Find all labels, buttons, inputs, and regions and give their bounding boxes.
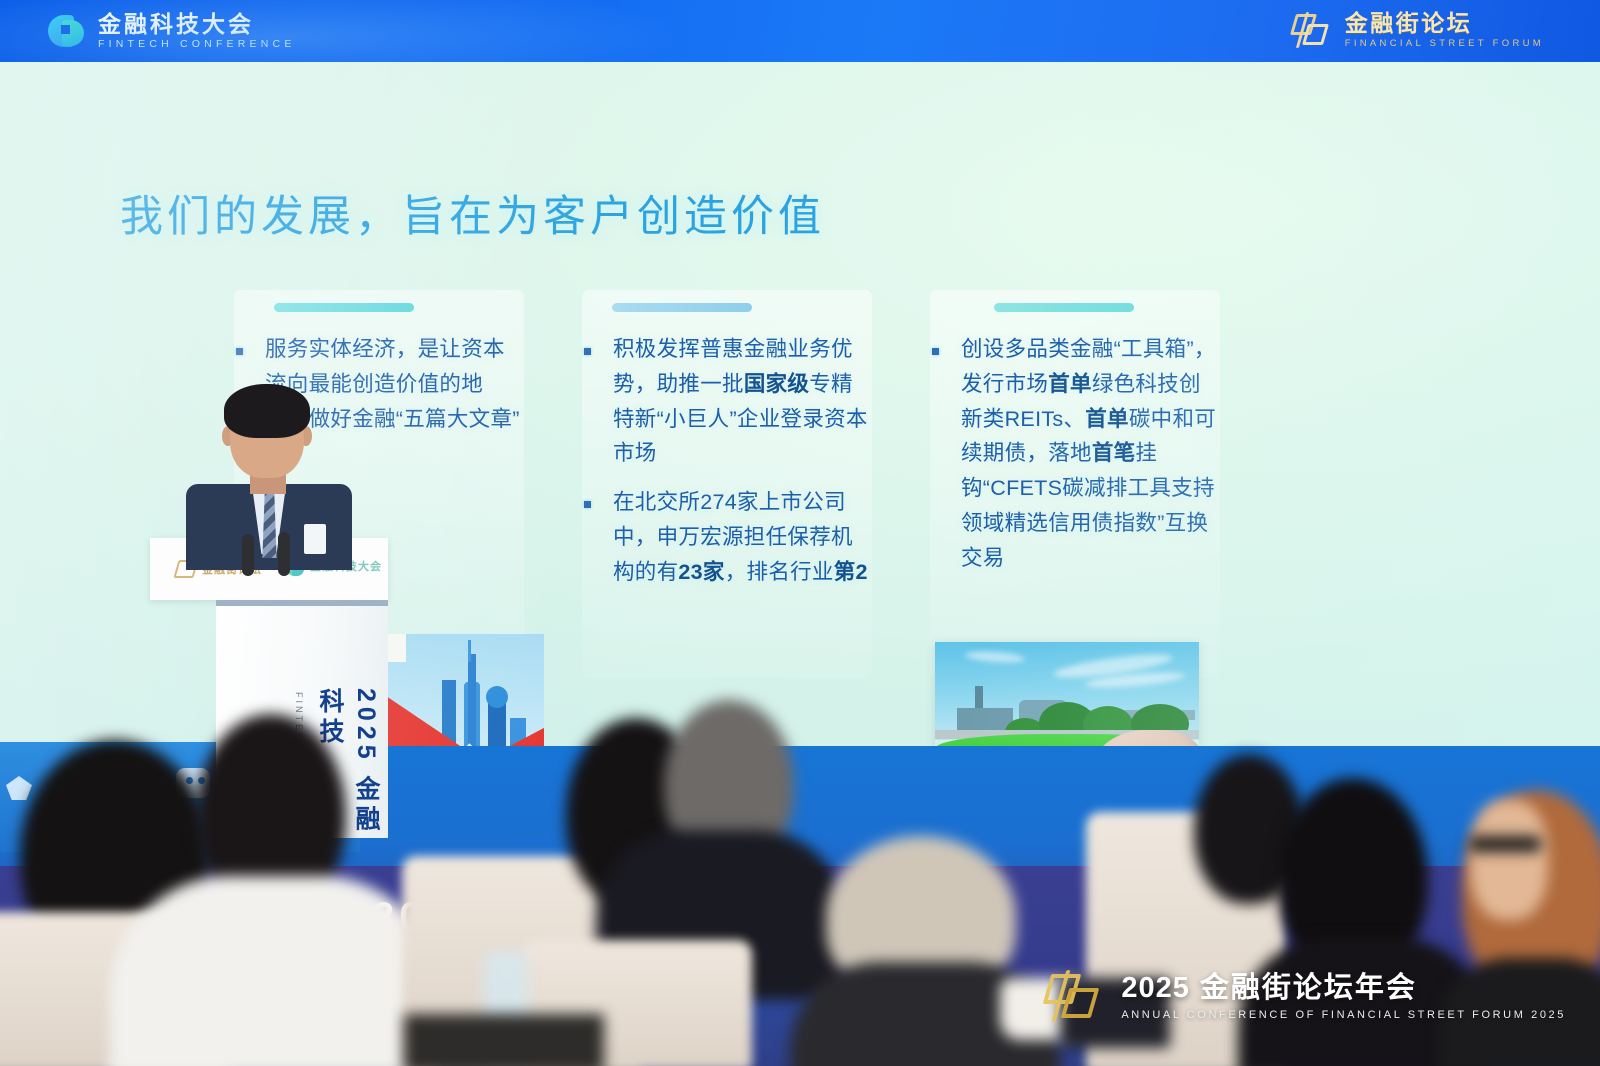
watermark-title: 2025 金融街论坛年会 bbox=[1121, 973, 1566, 1003]
financial-street-forum-icon bbox=[1290, 10, 1332, 50]
bullet-marker-icon bbox=[236, 348, 243, 355]
eyeglasses-icon bbox=[1468, 836, 1542, 852]
microphone-icon bbox=[278, 532, 290, 576]
topbar-left-cn: 金融科技大会 bbox=[98, 12, 296, 36]
bullet-marker-icon bbox=[932, 348, 939, 355]
speaker-badge bbox=[304, 524, 326, 554]
speaker-on-screen bbox=[176, 388, 366, 568]
watermark-en: ANNUAL CONFERENCE OF FINANCIAL STREET FO… bbox=[1121, 1009, 1566, 1021]
bullet-marker-icon bbox=[584, 501, 591, 508]
bullet-item: 在北交所274家上市公司中，申万宏源担任保荐机构的有23家，排名行业第2 bbox=[584, 485, 870, 589]
conference-photo-stage: 我们的发展，旨在为客户创造价值 服务实体经济，是让资本流向最能创造价值的地方，做… bbox=[0, 0, 1600, 1066]
top-banner: 金融科技大会 FINTECH CONFERENCE 金融街论坛 FINANCIA… bbox=[0, 0, 1600, 62]
topbar-right-cn: 金融街论坛 bbox=[1345, 11, 1544, 35]
slide-title: 我们的发展，旨在为客户创造价值 bbox=[120, 182, 825, 244]
column-2-bullets: 积极发挥普惠金融业务优势，助推一批国家级专精特新“小巨人”企业登录资本市场在北交… bbox=[584, 332, 870, 604]
topbar-right-en: FINANCIAL STREET FORUM bbox=[1345, 38, 1544, 49]
column-accent-bar bbox=[274, 303, 414, 312]
watermark-year: 2025 bbox=[1121, 972, 1190, 1004]
microphone-icon bbox=[242, 534, 254, 576]
financial-street-forum-logo: 金融街论坛 FINANCIAL STREET FORUM bbox=[1290, 10, 1544, 50]
event-watermark: 2025 金融街论坛年会 ANNUAL CONFERENCE OF FINANC… bbox=[1043, 968, 1566, 1026]
topbar-left-en: FINTECH CONFERENCE bbox=[98, 38, 296, 50]
bullet-item: 积极发挥普惠金融业务优势，助推一批国家级专精特新“小巨人”企业登录资本市场 bbox=[584, 332, 870, 471]
column-3-bullets: 创设多品类金融“工具箱”，发行市场首单绿色科技创新类REITs、首单碳中和可续期… bbox=[932, 332, 1218, 590]
bullet-marker-icon bbox=[584, 348, 591, 355]
fintech-conference-icon bbox=[48, 13, 84, 49]
bullet-text: 积极发挥普惠金融业务优势，助推一批国家级专精特新“小巨人”企业登录资本市场 bbox=[613, 332, 870, 471]
audience-face bbox=[1470, 800, 1548, 920]
column-accent-bar bbox=[612, 303, 752, 312]
bullet-text: 创设多品类金融“工具箱”，发行市场首单绿色科技创新类REITs、首单碳中和可续期… bbox=[961, 332, 1218, 576]
bullet-text: 在北交所274家上市公司中，申万宏源担任保荐机构的有23家，排名行业第2 bbox=[613, 485, 870, 589]
watermark-cn: 金融街论坛年会 bbox=[1200, 972, 1417, 1004]
desk-surface bbox=[404, 1014, 604, 1066]
financial-street-forum-watermark-icon bbox=[1043, 968, 1105, 1026]
audience-body bbox=[110, 876, 440, 1066]
fintech-conference-logo: 金融科技大会 FINTECH CONFERENCE bbox=[48, 12, 296, 50]
column-accent-bar bbox=[994, 303, 1134, 312]
bullet-item: 创设多品类金融“工具箱”，发行市场首单绿色科技创新类REITs、首单碳中和可续期… bbox=[932, 332, 1218, 576]
